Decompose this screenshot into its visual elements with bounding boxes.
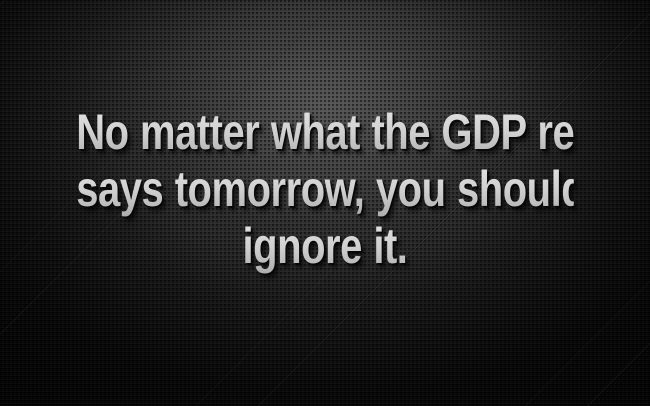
- quote-text-block: No matter what the GDP report says tomor…: [0, 104, 650, 275]
- quote-line-1: No matter what the GDP report: [76, 104, 574, 161]
- quote-line-2: says tomorrow, you should: [76, 161, 574, 218]
- quote-line-3: ignore it.: [76, 218, 574, 275]
- quote-poster: No matter what the GDP report says tomor…: [0, 0, 650, 406]
